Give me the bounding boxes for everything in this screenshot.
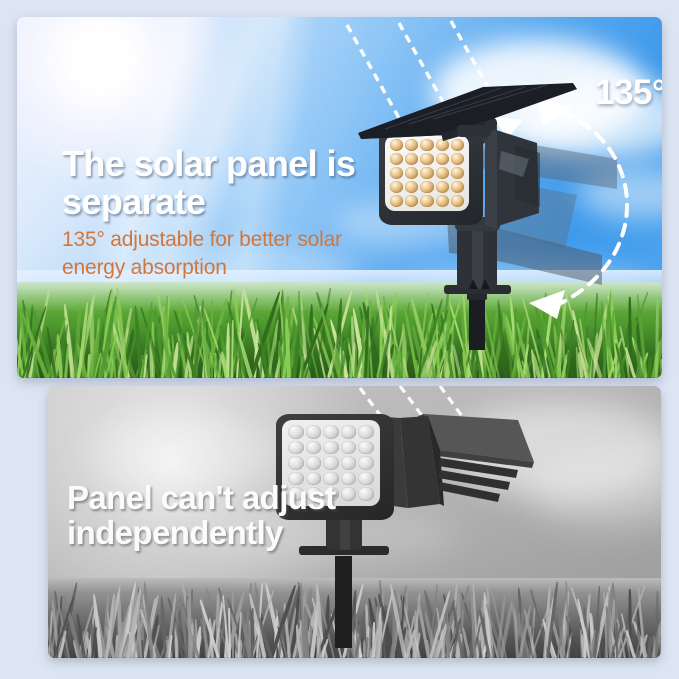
led-bulb <box>306 456 322 470</box>
led-bulb <box>323 425 339 439</box>
led-bulb <box>358 456 374 470</box>
led-bulb <box>341 456 357 470</box>
advantage-panel: The solar panel is separate 135° adjusta… <box>17 17 662 378</box>
led-bulb <box>358 441 374 455</box>
led-bulb <box>341 425 357 439</box>
drawback-panel: Panel can't adjust independently <box>48 386 661 658</box>
angle-label: 135° <box>595 73 662 113</box>
led-bulb <box>323 456 339 470</box>
advantage-subtitle: 135° adjustable for better solar energy … <box>62 226 382 281</box>
led-bulb <box>323 441 339 455</box>
led-bulb <box>306 425 322 439</box>
led-bulb <box>341 441 357 455</box>
drawback-headline: Panel can't adjust independently <box>67 481 387 551</box>
led-bulb <box>288 456 304 470</box>
advantage-headline: The solar panel is separate <box>62 145 392 221</box>
led-bulb <box>306 441 322 455</box>
comparison-infographic: The solar panel is separate 135° adjusta… <box>0 0 679 679</box>
led-bulb <box>288 441 304 455</box>
led-bulb <box>288 425 304 439</box>
led-bulb <box>358 425 374 439</box>
